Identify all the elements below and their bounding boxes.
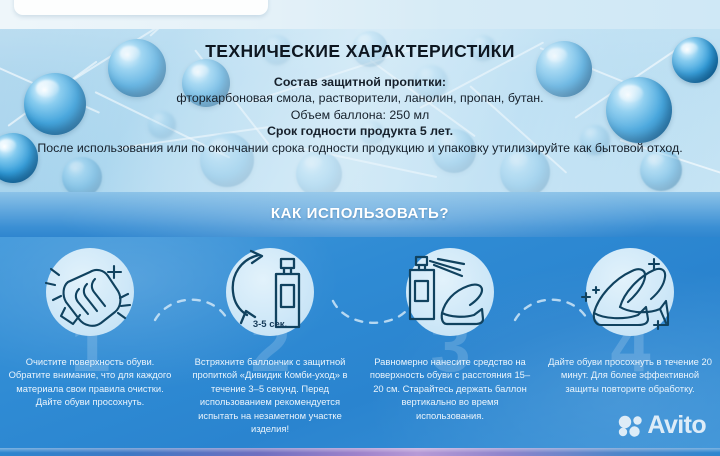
step-2-text: Встряхните баллончик с защитной пропитко… <box>188 355 352 435</box>
composition-value: фторкарбоновая смола, растворители, лано… <box>0 90 720 106</box>
volume-value: Объем баллона: 250 мл <box>0 107 720 123</box>
specs-title: ТЕХНИЧЕСКИЕ ХАРАКТЕРИСТИКИ <box>0 29 720 62</box>
step-3: 3 Равномерно нанесите средство на поверх… <box>360 237 540 448</box>
step-2: 2 3-5 сек. Встряхните баллончик с защитн… <box>180 237 360 448</box>
product-infographic-page: ТЕХНИЧЕСКИЕ ХАРАКТЕРИСТИКИ Состав защитн… <box>0 0 720 456</box>
how-to-use-steps-section: 1 Очистите поверхность обуви. Обратите <box>0 237 720 448</box>
bottom-color-strip <box>0 448 720 456</box>
step-2-duration-badge: 3-5 сек. <box>253 319 287 330</box>
avito-dots-logo <box>617 415 643 437</box>
avito-wordmark: Avito <box>647 413 706 438</box>
step-1-text: Очистите поверхность обуви. Обратите вни… <box>8 355 172 409</box>
shake-spray-can-icon <box>215 245 325 345</box>
technical-specs-section: ТЕХНИЧЕСКИЕ ХАРАКТЕРИСТИКИ Состав защитн… <box>0 29 720 192</box>
top-strip <box>0 0 720 30</box>
step-3-text: Равномерно нанесите средство на поверхно… <box>368 355 532 422</box>
step-4-text: Дайте обуви просохнуть в течение 20 мину… <box>548 355 712 395</box>
avito-watermark: Avito <box>617 413 706 438</box>
hand-wiping-cloth-icon <box>35 245 145 345</box>
how-to-use-header: КАК ИСПОЛЬЗОВАТЬ? <box>0 192 720 237</box>
shelf-life-value: Срок годности продукта 5 лет. <box>0 123 720 139</box>
composition-label: Состав защитной пропитки: <box>0 74 720 90</box>
white-rounded-card <box>14 0 268 15</box>
how-to-use-title: КАК ИСПОЛЬЗОВАТЬ? <box>0 205 720 222</box>
step-1: 1 Очистите поверхность обуви. Обратите <box>0 237 180 448</box>
specs-body: Состав защитной пропитки: фторкарбоновая… <box>0 62 720 156</box>
clean-shoes-sparkle-icon <box>570 245 690 345</box>
disposal-note: После использования или по окончании сро… <box>0 140 720 156</box>
spray-can-shoe-icon <box>390 245 510 345</box>
